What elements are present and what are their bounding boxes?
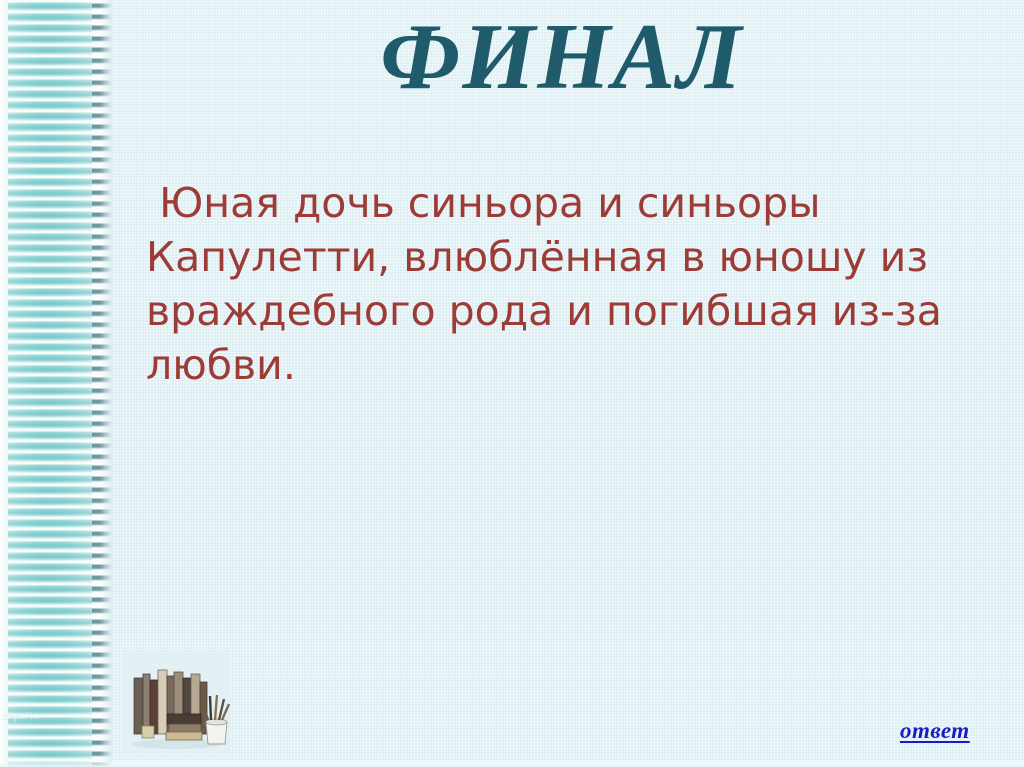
band-ribs-texture (8, 0, 104, 767)
books-clipart (122, 652, 230, 754)
band-fade-edge (100, 0, 112, 767)
left-decorative-band: http://... (0, 0, 112, 767)
watermark-text: http://... (2, 710, 106, 722)
slide-body-text: Юная дочь синьора и синьоры Капулетти, в… (146, 176, 976, 392)
slide-title: ФИНАЛ (112, 8, 1012, 107)
books-and-pencil-cup-icon (122, 652, 230, 754)
answer-link[interactable]: ответ (900, 718, 970, 744)
bottom-edge-strip (0, 761, 1024, 767)
presentation-slide: http://... ФИНАЛ Юная дочь синьора и син… (0, 0, 1024, 767)
